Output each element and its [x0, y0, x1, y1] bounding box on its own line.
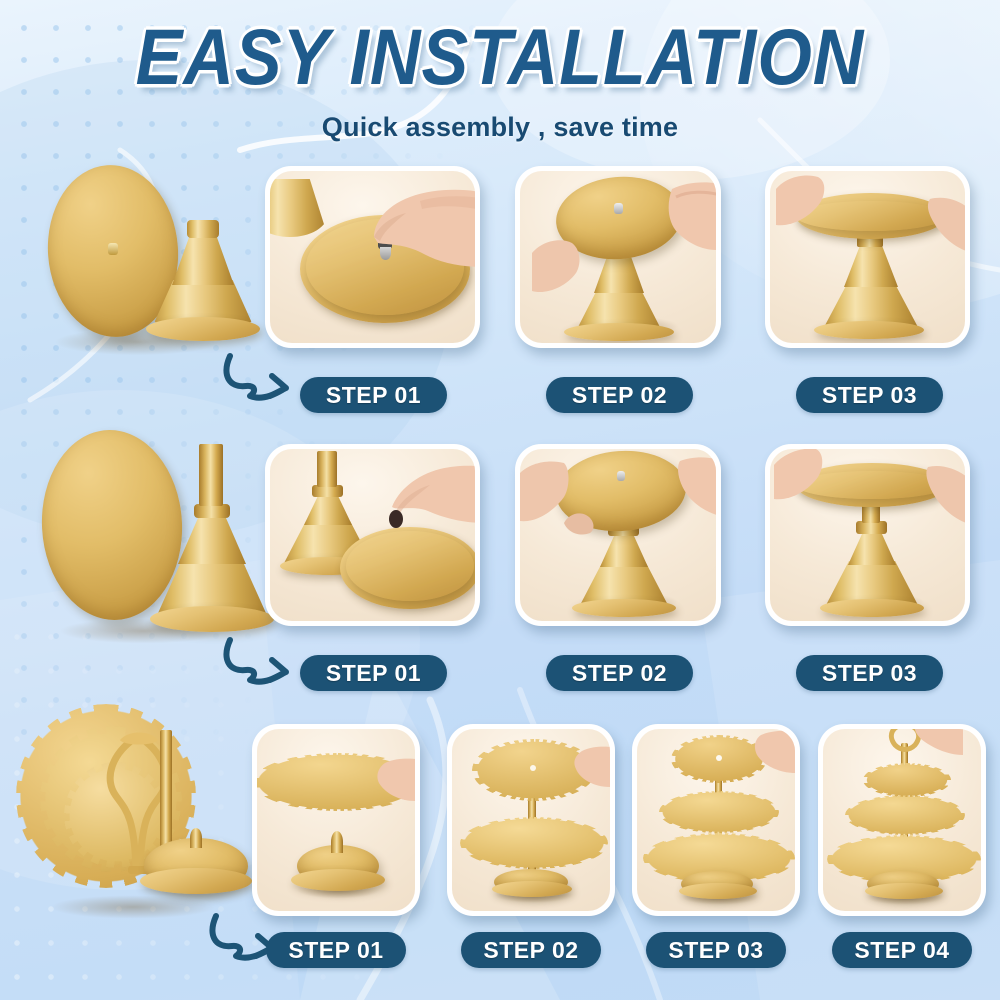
product-hero-short-stand	[20, 165, 260, 365]
step-photo-card[interactable]	[765, 166, 970, 348]
step-photo	[770, 449, 965, 621]
step-badge[interactable]: STEP 04	[832, 932, 972, 968]
step-photo	[452, 729, 610, 911]
step-photo-card[interactable]	[265, 444, 480, 626]
step-badge[interactable]: STEP 02	[546, 655, 693, 691]
step-photo	[257, 729, 415, 911]
page-title: EASY INSTALLATION	[0, 18, 1000, 96]
step-photo-card[interactable]	[515, 166, 721, 348]
step-photo-card[interactable]	[632, 724, 800, 916]
step-photo	[520, 171, 716, 343]
step-photo	[637, 729, 795, 911]
step-photo-card[interactable]	[818, 724, 986, 916]
step-badge[interactable]: STEP 02	[546, 377, 693, 413]
step-photo	[520, 449, 716, 621]
page-subtitle: Quick assembly , save time	[0, 112, 1000, 143]
step-badge[interactable]: STEP 02	[461, 932, 601, 968]
step-photo-card[interactable]	[447, 724, 615, 916]
step-photo	[270, 449, 475, 621]
step-badge[interactable]: STEP 01	[266, 932, 406, 968]
step-badge[interactable]: STEP 03	[646, 932, 786, 968]
product-hero-tall-stand	[18, 430, 268, 650]
plate-centre-bolt-icon	[108, 243, 118, 255]
step-badge[interactable]: STEP 01	[300, 655, 447, 691]
product-hero-three-tier	[8, 700, 258, 930]
step-photo-card[interactable]	[765, 444, 970, 626]
step-badge[interactable]: STEP 01	[300, 377, 447, 413]
step-photo-card[interactable]	[515, 444, 721, 626]
header: EASY INSTALLATION Quick assembly , save …	[0, 0, 1000, 143]
step-photo-card[interactable]	[265, 166, 480, 348]
infographic-page: EASY INSTALLATION Quick assembly , save …	[0, 0, 1000, 1000]
step-photo-card[interactable]	[252, 724, 420, 916]
step-photo	[270, 171, 475, 343]
step-photo	[770, 171, 965, 343]
step-badge[interactable]: STEP 03	[796, 377, 943, 413]
step-badge[interactable]: STEP 03	[796, 655, 943, 691]
step-photo	[823, 729, 981, 911]
